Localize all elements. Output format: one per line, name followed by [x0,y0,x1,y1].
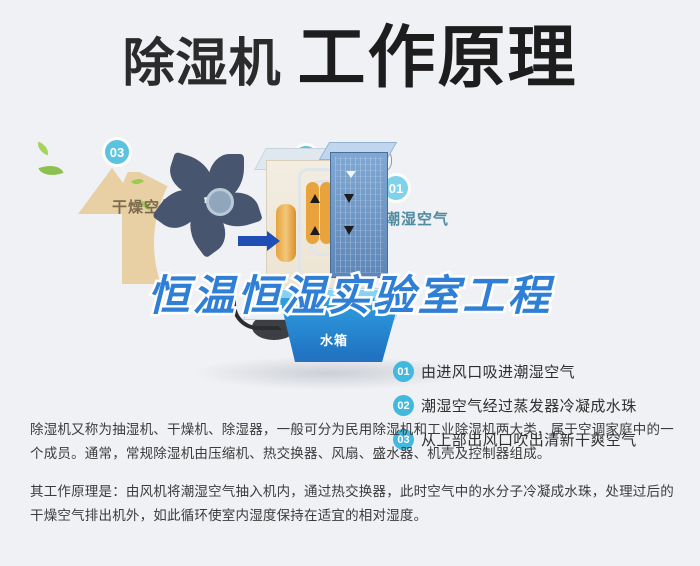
water-tank-label: 水箱 [320,330,348,349]
heat-exchanger-unit [330,152,388,278]
airflow-arrow-down [344,226,354,235]
list-item: 01 由进风口吸进潮湿空气 [393,361,693,382]
infographic-page: 除湿机 工作原理 03 02 01 热交换器 干燥空气 潮湿空气 [0,0,700,566]
page-title: 除湿机 工作原理 [0,24,700,92]
step-label: 由进风口吸进潮湿空气 [421,361,575,382]
dry-air-marker: 03 [105,140,129,164]
humid-air-label: 潮湿空气 [385,208,449,229]
airflow-arrow-up [310,194,320,203]
step-label: 潮湿空气经过蒸发器冷凝成水珠 [421,395,637,416]
fan-hub [206,188,234,216]
airflow-arrow-up [310,226,320,235]
leaf-icon [35,141,51,155]
title-subject: 除湿机 [122,38,281,90]
description-block: 除湿机又称为抽湿机、干燥机、除湿器，一般可分为民用除湿机和工业除湿机两大类，属于… [30,418,674,542]
airflow-arrow-down [344,194,354,203]
diagram-illustration: 03 02 01 热交换器 干燥空气 潮湿空气 [0,118,700,408]
step-number: 01 [393,361,414,382]
intake-arrow [238,236,268,246]
leaf-icon [38,161,63,181]
paragraph-principle: 其工作原理是：由风机将潮湿空气抽入机内，通过热交换器，此时空气中的水分子冷凝成水… [30,480,674,528]
title-topic: 工作原理 [298,24,578,92]
list-item: 02 潮湿空气经过蒸发器冷凝成水珠 [393,395,693,416]
fan-icon [168,146,264,242]
paragraph-overview: 除湿机又称为抽湿机、干燥机、除湿器，一般可分为民用除湿机和工业除湿机两大类，属于… [30,418,674,466]
step-number: 02 [393,395,414,416]
